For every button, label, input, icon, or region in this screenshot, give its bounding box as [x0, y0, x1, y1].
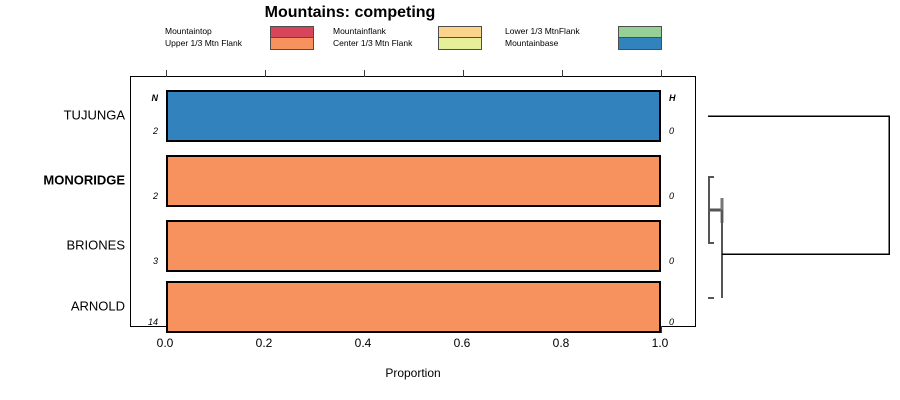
x-tick-label: 0.6	[454, 336, 471, 350]
legend-swatch-2	[618, 26, 662, 50]
legend-label: Center 1/3 Mtn Flank	[333, 38, 412, 50]
bar-segment[interactable]	[166, 155, 661, 207]
legend-label: Upper 1/3 Mtn Flank	[165, 38, 242, 50]
h-value: 0	[669, 191, 691, 201]
legend-swatch-color	[271, 27, 313, 38]
n-value: 3	[136, 256, 158, 266]
x-tick-label: 1.0	[652, 336, 669, 350]
row-label-briones[interactable]: BRIONES	[0, 238, 125, 253]
bar-segment[interactable]	[166, 220, 661, 272]
h-value: 0	[669, 126, 691, 136]
chart-title: Mountains: competing	[0, 4, 700, 22]
n-value: 2	[136, 126, 158, 136]
legend-swatch-color	[619, 27, 661, 38]
legend-swatch-color	[619, 38, 661, 49]
legend-swatch-color	[439, 27, 481, 38]
legend-label: Mountainflank	[333, 26, 412, 38]
x-tick-label: 0.0	[157, 336, 174, 350]
n-value: 2	[136, 191, 158, 201]
legend-column-2: Lower 1/3 MtnFlank Mountainbase	[505, 26, 685, 60]
legend-swatch-1	[438, 26, 482, 50]
legend-labels-2: Lower 1/3 MtnFlank Mountainbase	[505, 26, 580, 49]
x-tick-label: 0.4	[355, 336, 372, 350]
bar-segment[interactable]	[166, 281, 661, 333]
legend-labels-1: Mountainflank Center 1/3 Mtn Flank	[333, 26, 412, 49]
legend-swatch-0	[270, 26, 314, 50]
h-value: 0	[669, 256, 691, 266]
legend-label: Mountainbase	[505, 38, 580, 50]
legend-label: Mountaintop	[165, 26, 242, 38]
h-column-header: H	[669, 93, 691, 103]
legend-column-0: Mountaintop Upper 1/3 Mtn Flank	[165, 26, 335, 60]
plot-area: NH202030140	[130, 76, 696, 327]
x-tick-label: 0.8	[553, 336, 570, 350]
legend-labels-0: Mountaintop Upper 1/3 Mtn Flank	[165, 26, 242, 49]
legend-swatch-color	[271, 38, 313, 49]
h-value: 0	[669, 317, 691, 327]
dendrogram	[700, 76, 900, 327]
n-column-header: N	[136, 93, 158, 103]
legend: Mountaintop Upper 1/3 Mtn Flank Mountain…	[165, 26, 685, 60]
n-value: 14	[136, 317, 158, 327]
x-tick-mark-top	[166, 70, 167, 77]
legend-label: Lower 1/3 MtnFlank	[505, 26, 580, 38]
x-tick-label: 0.2	[256, 336, 273, 350]
legend-swatch-color	[439, 38, 481, 49]
x-tick-mark-top	[661, 70, 662, 77]
x-tick-mark-top	[562, 70, 563, 77]
row-label-arnold[interactable]: ARNOLD	[0, 299, 125, 314]
bar-segment[interactable]	[166, 90, 661, 142]
row-label-tujunga[interactable]: TUJUNGA	[0, 108, 125, 123]
x-tick-mark-top	[265, 70, 266, 77]
legend-column-1: Mountainflank Center 1/3 Mtn Flank	[333, 26, 503, 60]
x-axis-title: Proportion	[130, 366, 696, 380]
row-label-monoridge[interactable]: MONORIDGE	[0, 173, 125, 188]
chart-root: Mountains: competing Mountaintop Upper 1…	[0, 0, 900, 400]
x-tick-mark-top	[463, 70, 464, 77]
x-tick-mark-bottom	[661, 326, 662, 333]
x-tick-mark-top	[364, 70, 365, 77]
